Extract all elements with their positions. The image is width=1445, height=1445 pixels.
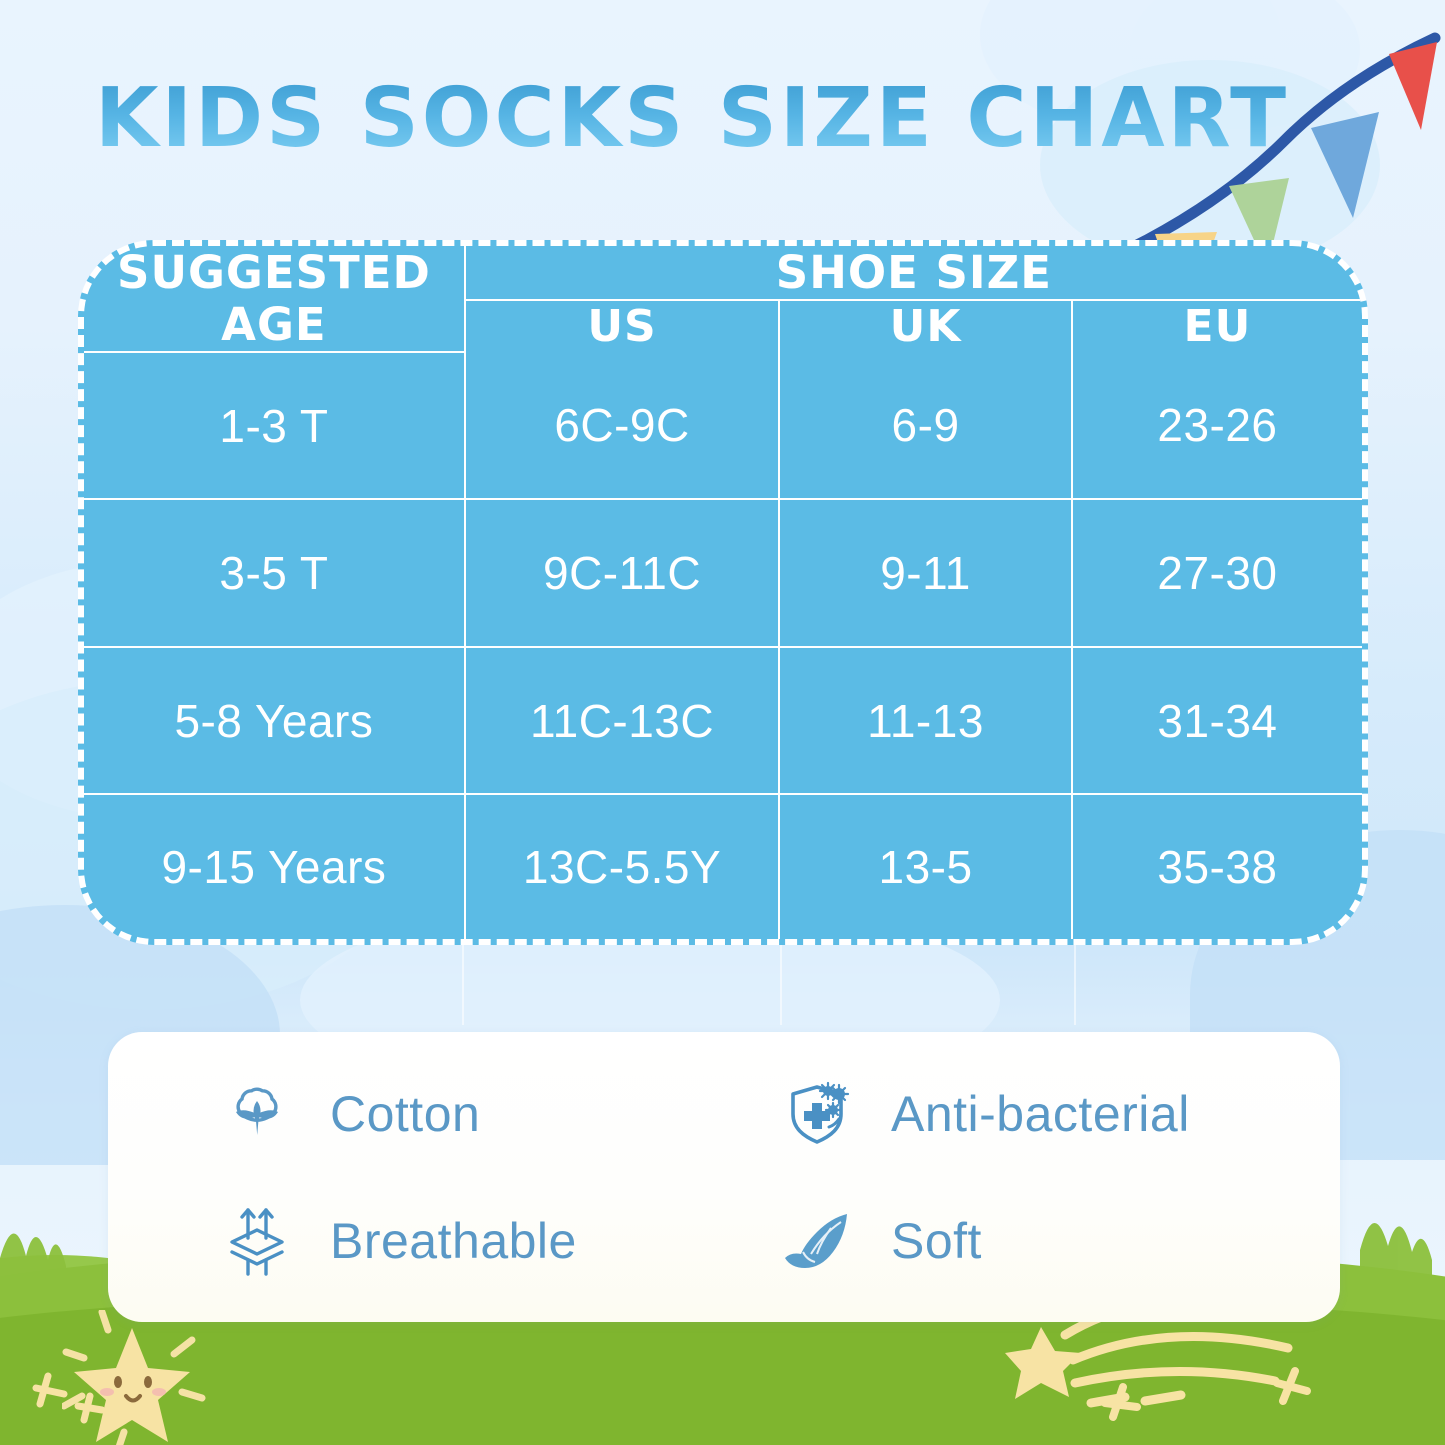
feature-label: Breathable	[330, 1212, 577, 1270]
feature-label: Anti-bacterial	[891, 1085, 1190, 1143]
cell-eu: 27-30	[1072, 499, 1362, 646]
cell-age: 5-8 Years	[84, 647, 465, 794]
cell-uk: 11-13	[779, 647, 1072, 794]
header-suggested-age: SUGGESTED AGE	[84, 246, 465, 352]
table-header-row-1: SUGGESTED AGE SHOE SIZE	[84, 246, 1362, 300]
feature-label: Cotton	[330, 1085, 480, 1143]
feature-breathable: Breathable	[218, 1202, 779, 1280]
cell-us: 13C-5.5Y	[465, 794, 779, 939]
feature-soft: Soft	[779, 1202, 1340, 1280]
features-card: Cotton	[108, 1032, 1340, 1322]
cell-age: 1-3 T	[84, 352, 465, 499]
cell-eu: 31-34	[1072, 647, 1362, 794]
header-shoe-size: SHOE SIZE	[465, 246, 1362, 300]
cotton-boll-icon	[218, 1075, 296, 1153]
feather-icon	[779, 1202, 857, 1280]
bunting-flag-red	[1389, 42, 1437, 130]
header-eu: EU	[1072, 300, 1362, 352]
header-uk: UK	[779, 300, 1072, 352]
shield-germ-icon	[779, 1075, 857, 1153]
cell-uk: 13-5	[779, 794, 1072, 939]
column-guide-line	[780, 945, 782, 1025]
column-guide-line	[1074, 945, 1076, 1025]
cell-us: 6C-9C	[465, 352, 779, 499]
size-chart-canvas: KIDS SOCKS SIZE CHART SUGGESTED AGE SHOE…	[0, 0, 1445, 1445]
bunting-flag-blue	[1311, 112, 1379, 218]
cell-age: 9-15 Years	[84, 794, 465, 939]
size-table: SUGGESTED AGE SHOE SIZE US UK EU 1-3 T 6…	[84, 246, 1362, 939]
feature-label: Soft	[891, 1212, 982, 1270]
table-row: 3-5 T 9C-11C 9-11 27-30	[84, 499, 1362, 646]
feature-cotton: Cotton	[218, 1075, 779, 1153]
cell-eu: 35-38	[1072, 794, 1362, 939]
header-age-line1: SUGGESTED	[117, 246, 431, 299]
feature-anti-bacterial: Anti-bacterial	[779, 1075, 1340, 1153]
size-table-card: SUGGESTED AGE SHOE SIZE US UK EU 1-3 T 6…	[78, 240, 1368, 945]
table-row: 9-15 Years 13C-5.5Y 13-5 35-38	[84, 794, 1362, 939]
header-age-line2: AGE	[221, 298, 327, 351]
page-title: KIDS SOCKS SIZE CHART	[95, 78, 1289, 160]
cell-us: 11C-13C	[465, 647, 779, 794]
cell-eu: 23-26	[1072, 352, 1362, 499]
cell-age: 3-5 T	[84, 499, 465, 646]
table-row: 1-3 T 6C-9C 6-9 23-26	[84, 352, 1362, 499]
cell-uk: 6-9	[779, 352, 1072, 499]
airflow-layers-icon	[218, 1202, 296, 1280]
table-row: 5-8 Years 11C-13C 11-13 31-34	[84, 647, 1362, 794]
header-us: US	[465, 300, 779, 352]
cell-us: 9C-11C	[465, 499, 779, 646]
column-guide-line	[462, 945, 464, 1025]
cell-uk: 9-11	[779, 499, 1072, 646]
